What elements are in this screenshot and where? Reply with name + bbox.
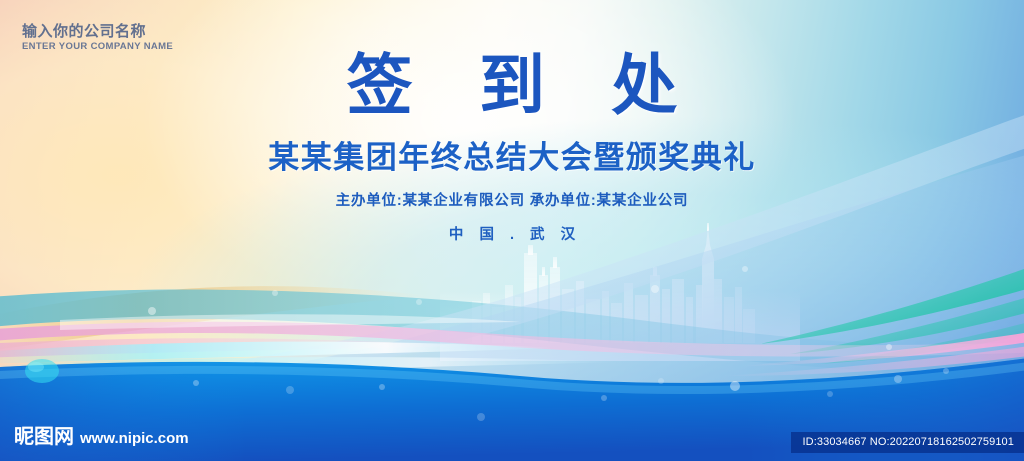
watermark-url: www.nipic.com: [80, 431, 189, 447]
stock-id-badge: ID:33034667 NO:20220718162502759101: [791, 432, 1024, 453]
poster-canvas: 输入你的公司名称 ENTER YOUR COMPANY NAME 签 到 处 某…: [0, 0, 1024, 461]
watermark: 昵图网 www.nipic.com: [14, 427, 189, 447]
company-name-en: ENTER YOUR COMPANY NAME: [22, 42, 173, 52]
page-title: 签 到 处: [0, 52, 1024, 118]
event-subtitle: 某某集团年终总结大会暨颁奖典礼: [0, 142, 1024, 173]
watermark-brand-cn: 昵图网: [14, 427, 74, 447]
company-name-block: 输入你的公司名称 ENTER YOUR COMPANY NAME: [22, 24, 173, 52]
organizer-line: 主办单位:某某企业有限公司 承办单位:某某企业公司: [0, 194, 1024, 209]
company-name-cn: 输入你的公司名称: [22, 24, 173, 40]
location-line: 中 国 . 武 汉: [0, 228, 1024, 243]
